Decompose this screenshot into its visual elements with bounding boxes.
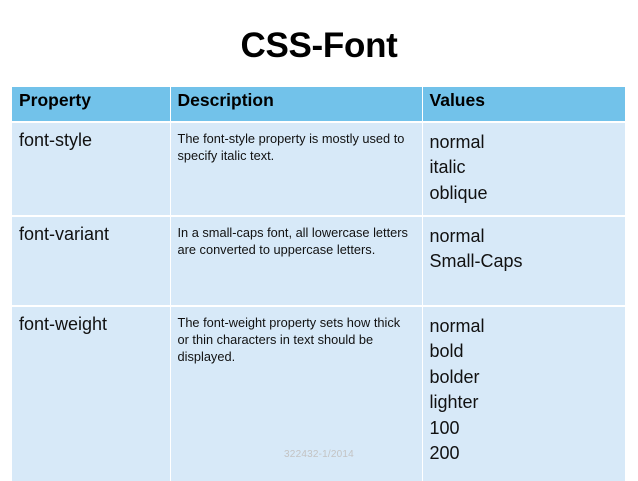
value-item: bold [430, 339, 618, 364]
slide-footer-note: 322432-1/2014 [0, 449, 638, 460]
column-header-description: Description [170, 87, 422, 122]
table-header-row: Property Description Values [12, 87, 625, 122]
cell-property: font-style [12, 122, 170, 216]
value-item: oblique [430, 181, 618, 206]
value-item: normal [430, 314, 618, 339]
cell-description: The font-style property is mostly used t… [170, 122, 422, 216]
value-item: 100 [430, 416, 618, 441]
value-item: lighter [430, 390, 618, 415]
value-item: normal [430, 224, 618, 249]
cell-values: normal Small-Caps [422, 216, 625, 306]
cell-values: normal italic oblique [422, 122, 625, 216]
value-item: italic [430, 155, 618, 180]
css-font-table-wrapper: Property Description Values font-style T… [12, 87, 625, 481]
table-header: Property Description Values [12, 87, 625, 122]
cell-property: font-variant [12, 216, 170, 306]
table-row: font-variant In a small-caps font, all l… [12, 216, 625, 306]
table-body: font-style The font-style property is mo… [12, 122, 625, 481]
page-title: CSS-Font [0, 28, 638, 65]
cell-description: In a small-caps font, all lowercase lett… [170, 216, 422, 306]
column-header-property: Property [12, 87, 170, 122]
value-item: normal [430, 130, 618, 155]
value-item: Small-Caps [430, 249, 618, 274]
table-row: font-style The font-style property is mo… [12, 122, 625, 216]
value-item: bolder [430, 365, 618, 390]
slide-canvas: CSS-Font Property Description Values fon… [0, 0, 638, 479]
column-header-values: Values [422, 87, 625, 122]
css-font-property-table: Property Description Values font-style T… [12, 87, 625, 481]
